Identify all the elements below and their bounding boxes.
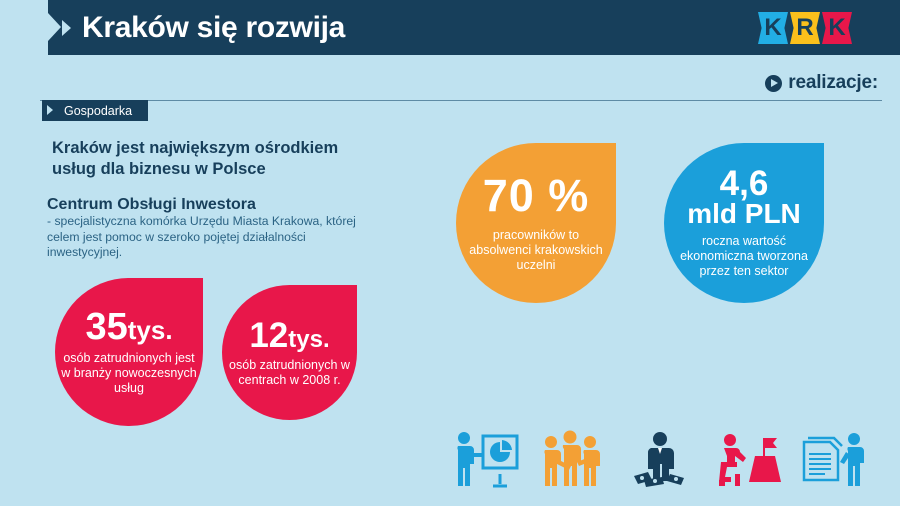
handshake-team-icon (537, 426, 609, 488)
stat-caption-12: osób zatrudnionych w centrach w 2008 r. (228, 358, 351, 388)
krk-logo-block-k1: K (758, 12, 788, 44)
tab-gospodarka[interactable]: Gospodarka (42, 100, 148, 121)
stat-value-12: 12tys. (249, 318, 329, 353)
stat-card-employed-centres-2008: 12tys. osób zatrudnionych w centrach w 2… (222, 285, 357, 420)
lead-heading: Kraków jest największym ośrodkiem usług … (52, 138, 382, 180)
chevron-right-icon (62, 20, 71, 36)
stat-card-employed-modern-services: 35tys. osób zatrudnionych jest w branży … (55, 278, 203, 426)
body-copy: - specjalistyczna komórka Urzędu Miasta … (47, 214, 382, 261)
krk-logo-block-k2: K (822, 12, 852, 44)
header-divider (40, 100, 882, 101)
sub-heading: Centrum Obsługi Inwestora (47, 195, 387, 215)
krk-logo-letter-3: K (828, 12, 845, 44)
stat-value-70: 70 % (483, 173, 590, 218)
stat-caption-70: pracowników to absolwenci krakowskich uc… (466, 228, 606, 272)
tab-chevron-right-icon (47, 105, 53, 115)
header-notch-shape (48, 13, 61, 41)
krk-logo[interactable]: K R K (758, 12, 854, 44)
infographic-canvas: Kraków się rozwija K R K realizacje: Gos… (0, 0, 900, 506)
stat-value-46: 4,6 mld PLN (687, 167, 801, 227)
stat-card-graduates-share: 70 % pracowników to absolwenci krakowski… (456, 143, 616, 303)
stat-caption-46: roczna wartość ekonomiczna tworzona prze… (672, 234, 816, 278)
page-title: Kraków się rozwija (82, 6, 345, 50)
stat-unit-46: mld PLN (687, 201, 801, 228)
play-circle-icon (765, 75, 782, 92)
tab-gospodarka-label: Gospodarka (64, 104, 132, 118)
presenter-piechart-icon (450, 426, 522, 488)
realizacje-header[interactable]: realizacje: (765, 72, 878, 94)
krk-logo-letter-1: K (764, 12, 781, 44)
krk-logo-letter-2: R (796, 12, 813, 44)
businessman-money-icon (624, 426, 696, 488)
stat-unit-35: tys. (128, 315, 173, 345)
businessman-flag-icon (711, 426, 783, 488)
stat-number-12: 12 (249, 316, 288, 355)
stat-unit-12: tys. (288, 326, 329, 353)
krk-logo-block-r: R (790, 12, 820, 44)
stat-value-35: 35tys. (85, 308, 172, 346)
stat-number-35: 35 (85, 306, 127, 348)
stat-card-annual-economic-value: 4,6 mld PLN roczna wartość ekonomiczna t… (664, 143, 824, 303)
icon-row (450, 418, 870, 488)
stat-caption-35: osób zatrudnionych jest w branży nowocze… (61, 351, 197, 395)
realizacje-label: realizacje: (788, 72, 878, 94)
document-businessman-icon (798, 426, 870, 488)
